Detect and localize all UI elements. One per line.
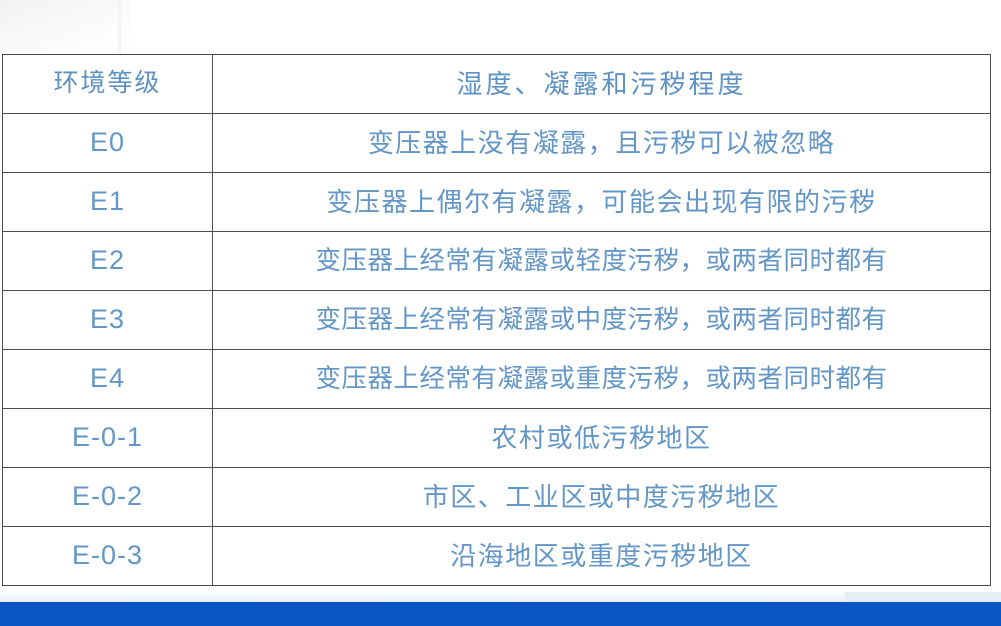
environment-class-table-wrapper: 环境等级 湿度、凝露和污秽程度 E0 变压器上没有凝露，且污秽可以被忽略 E1 …	[2, 54, 990, 586]
table-row: E-0-1 农村或低污秽地区	[3, 409, 991, 468]
cell-description-e-0-1: 农村或低污秽地区	[213, 409, 991, 468]
top-left-shading-edge	[118, 0, 121, 56]
cell-level-e-0-1: E-0-1	[3, 409, 213, 468]
cell-level-e0: E0	[3, 114, 213, 173]
cell-description-e4: 变压器上经常有凝露或重度污秽，或两者同时都有	[213, 350, 991, 409]
table-row: E4 变压器上经常有凝露或重度污秽，或两者同时都有	[3, 350, 991, 409]
cell-description-e3: 变压器上经常有凝露或中度污秽，或两者同时都有	[213, 291, 991, 350]
table-row: E2 变压器上经常有凝露或轻度污秽，或两者同时都有	[3, 232, 991, 291]
cell-level-e-0-3: E-0-3	[3, 527, 213, 586]
table-row: E-0-2 市区、工业区或中度污秽地区	[3, 468, 991, 527]
cell-level-e-0-2: E-0-2	[3, 468, 213, 527]
bottom-accent-bar	[0, 602, 1001, 626]
cell-description-e0: 变压器上没有凝露，且污秽可以被忽略	[213, 114, 991, 173]
table-row: E3 变压器上经常有凝露或中度污秽，或两者同时都有	[3, 291, 991, 350]
cell-level-e4: E4	[3, 350, 213, 409]
cell-description-e-0-3: 沿海地区或重度污秽地区	[213, 527, 991, 586]
cell-level-e2: E2	[3, 232, 213, 291]
cell-level-e1: E1	[3, 173, 213, 232]
environment-class-table: 环境等级 湿度、凝露和污秽程度 E0 变压器上没有凝露，且污秽可以被忽略 E1 …	[2, 54, 991, 586]
header-cell-description: 湿度、凝露和污秽程度	[213, 55, 991, 114]
header-cell-level: 环境等级	[3, 55, 213, 114]
table-row: E0 变压器上没有凝露，且污秽可以被忽略	[3, 114, 991, 173]
top-left-shading	[0, 0, 130, 52]
cell-level-e3: E3	[3, 291, 213, 350]
table-row: E1 变压器上偶尔有凝露，可能会出现有限的污秽	[3, 173, 991, 232]
cell-description-e2: 变压器上经常有凝露或轻度污秽，或两者同时都有	[213, 232, 991, 291]
table-row: E-0-3 沿海地区或重度污秽地区	[3, 527, 991, 586]
bottom-gradient-band-right	[845, 592, 1001, 602]
cell-description-e1: 变压器上偶尔有凝露，可能会出现有限的污秽	[213, 173, 991, 232]
slide-page: 环境等级 湿度、凝露和污秽程度 E0 变压器上没有凝露，且污秽可以被忽略 E1 …	[0, 0, 1001, 626]
table-header-row: 环境等级 湿度、凝露和污秽程度	[3, 55, 991, 114]
cell-description-e-0-2: 市区、工业区或中度污秽地区	[213, 468, 991, 527]
